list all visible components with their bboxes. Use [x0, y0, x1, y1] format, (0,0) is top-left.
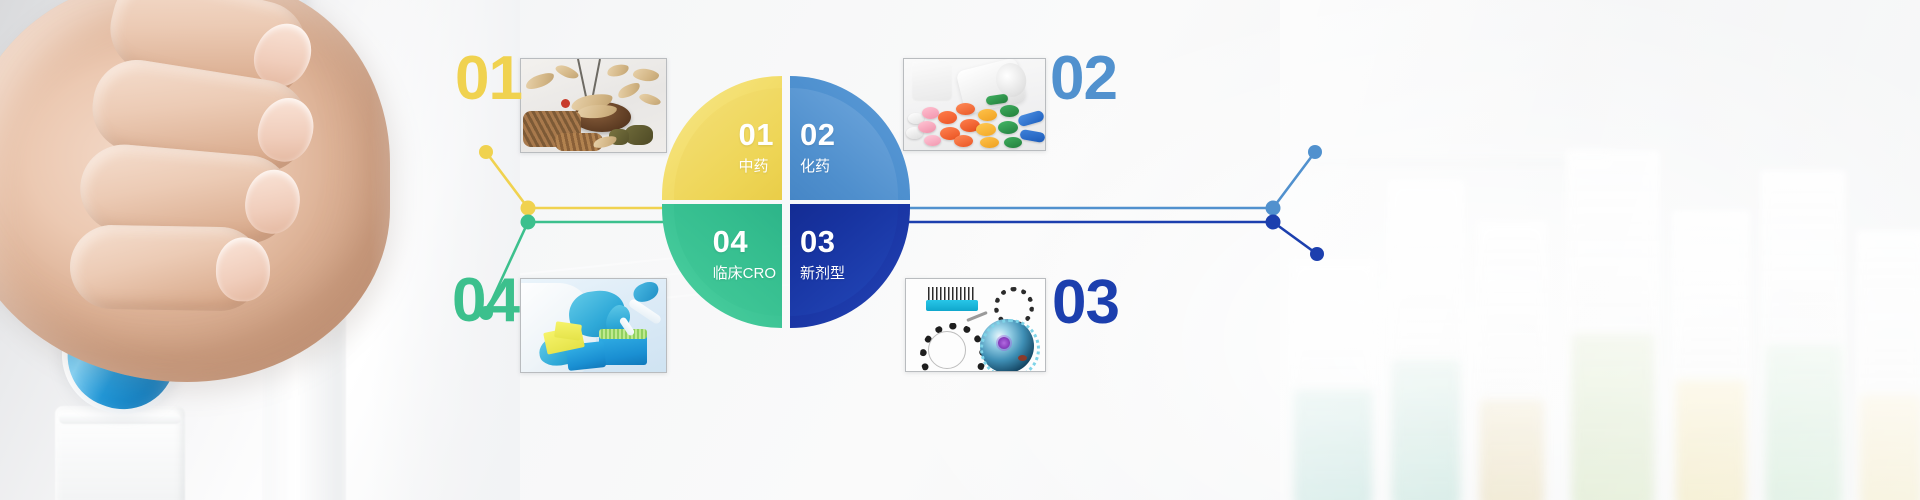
wheel-segment-tcm-label: 中药 — [739, 159, 774, 174]
wheel-segment-tcm-number: 01 — [739, 119, 774, 150]
callout-number-04: 04 — [452, 270, 519, 332]
callout-number-01: 01 — [455, 48, 522, 110]
hand — [0, 0, 390, 382]
wheel-segment-cro-label: 临床CRO — [713, 266, 776, 281]
finger-little — [69, 224, 262, 311]
wheel-segment-newform-label: 新剂型 — [800, 266, 845, 281]
four-quadrant-wheel: 01 中药 02 化药 04 临床CRO 03 新剂型 — [662, 76, 910, 328]
banner-stage: 50 ml Sterile 5 — [0, 0, 1920, 500]
wheel-segment-chemdrug-number: 02 — [800, 119, 835, 150]
beaker — [55, 406, 185, 500]
wheel-segment-chemdrug-label: 化药 — [800, 159, 835, 174]
hand-holding-test-tube-photo: 50 ml Sterile 5 — [0, 0, 520, 500]
callout-number-02: 02 — [1050, 48, 1117, 110]
wheel-segment-tcm[interactable]: 01 中药 — [662, 76, 782, 200]
wheel-segment-cro-number: 04 — [713, 226, 776, 257]
wheel-segment-chemdrug[interactable]: 02 化药 — [790, 76, 910, 200]
herbs-photo[interactable] — [520, 58, 667, 153]
callout-number-03: 03 — [1052, 272, 1119, 334]
pills-photo[interactable] — [903, 58, 1046, 151]
liposome-diagram[interactable] — [905, 278, 1046, 372]
wheel-segment-newform-number: 03 — [800, 226, 845, 257]
wheel-segment-newform[interactable]: 03 新剂型 — [790, 204, 910, 328]
wheel-segment-cro[interactable]: 04 临床CRO — [662, 204, 782, 328]
background-sheen — [1280, 0, 1920, 500]
lab-pipetting-photo[interactable] — [520, 278, 667, 373]
